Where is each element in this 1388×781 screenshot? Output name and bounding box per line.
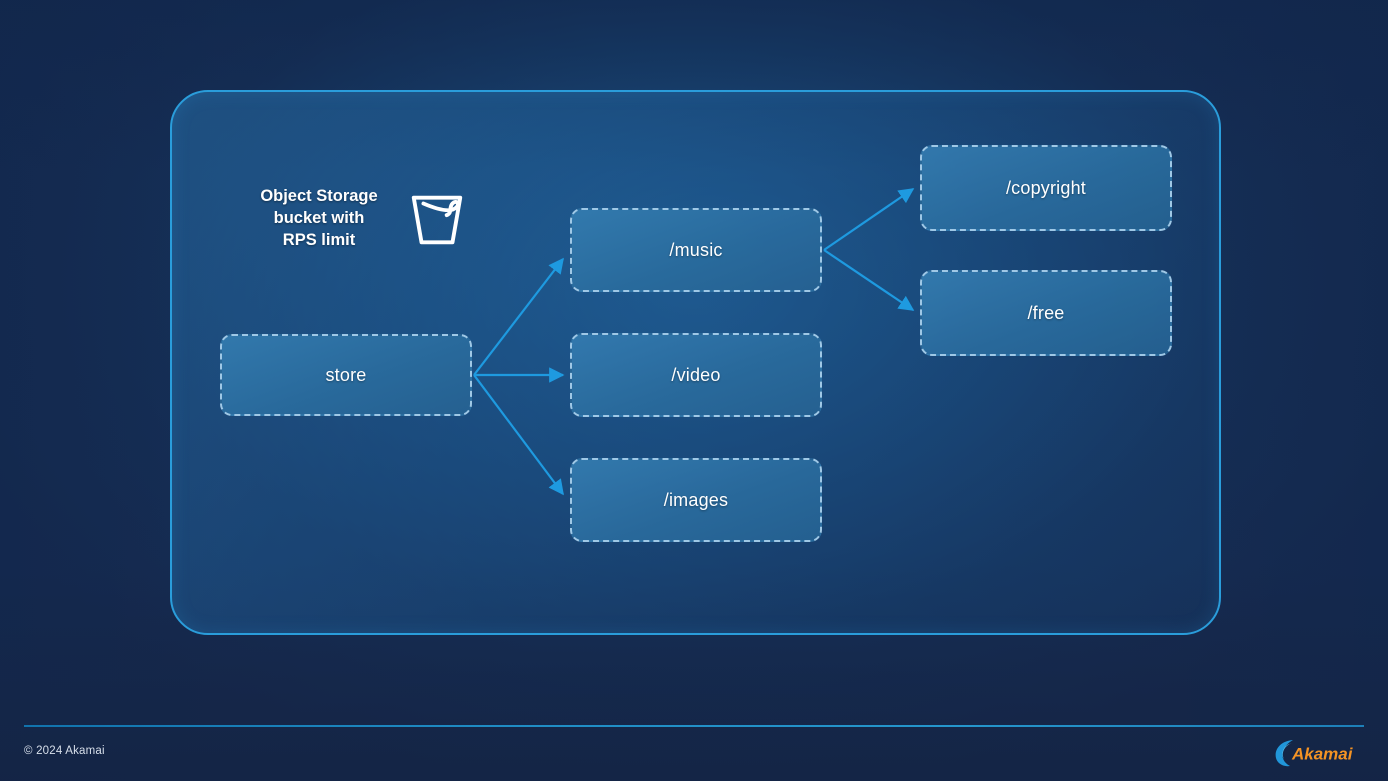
node-music-label: /music (669, 240, 722, 261)
node-copyright[interactable]: /copyright (920, 145, 1172, 231)
object-storage-bucket-group: Object Storage bucket with RPS limit (246, 178, 486, 260)
node-store-label: store (325, 365, 366, 386)
node-music[interactable]: /music (570, 208, 822, 292)
bucket-label-line-1: Object Storage (260, 187, 377, 205)
bucket-icon (406, 188, 468, 250)
node-free[interactable]: /free (920, 270, 1172, 356)
akamai-logo: Akamai (1272, 735, 1368, 769)
object-storage-bucket-label: Object Storage bucket with RPS limit (246, 186, 392, 251)
footer-divider (24, 725, 1364, 727)
node-video[interactable]: /video (570, 333, 822, 417)
node-images-label: /images (664, 490, 728, 511)
node-copyright-label: /copyright (1006, 178, 1086, 199)
node-images[interactable]: /images (570, 458, 822, 542)
bucket-label-line-3: RPS limit (283, 231, 355, 249)
node-free-label: /free (1027, 303, 1064, 324)
footer-copyright: © 2024 Akamai (24, 745, 105, 757)
node-video-label: /video (671, 365, 720, 386)
bucket-label-line-2: bucket with (274, 209, 365, 227)
akamai-logo-text: Akamai (1291, 745, 1354, 764)
node-store[interactable]: store (220, 334, 472, 416)
